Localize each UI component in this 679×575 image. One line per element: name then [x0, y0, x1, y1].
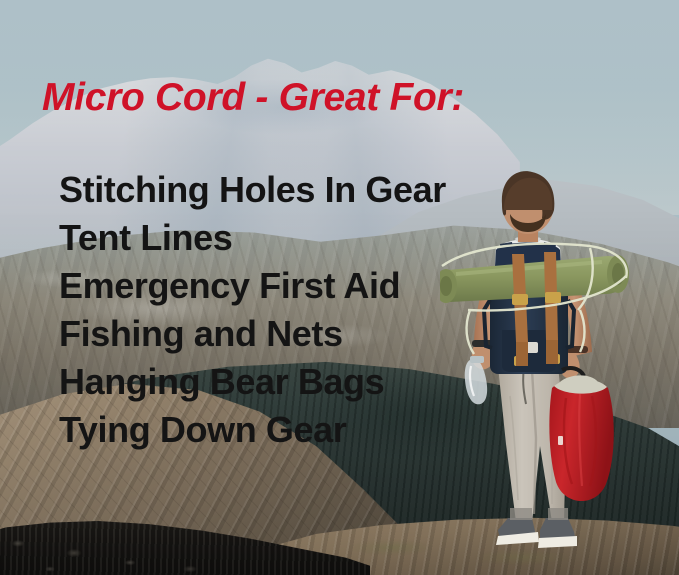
stuff-sack: [549, 368, 613, 501]
list-item: Tent Lines: [59, 214, 489, 262]
list-item: Emergency First Aid: [59, 262, 489, 310]
list-item: Tying Down Gear: [59, 406, 489, 454]
list-item: Fishing and Nets: [59, 310, 489, 358]
benefit-list: Stitching Holes In Gear Tent Lines Emerg…: [59, 166, 489, 454]
page-title: Micro Cord - Great For:: [42, 78, 464, 117]
product-banner-canvas: Micro Cord - Great For: Stitching Holes …: [0, 0, 679, 575]
list-item: Hanging Bear Bags: [59, 358, 489, 406]
list-item: Stitching Holes In Gear: [59, 166, 489, 214]
hiker-shoes: [496, 508, 577, 548]
hiker-head: [502, 171, 555, 242]
